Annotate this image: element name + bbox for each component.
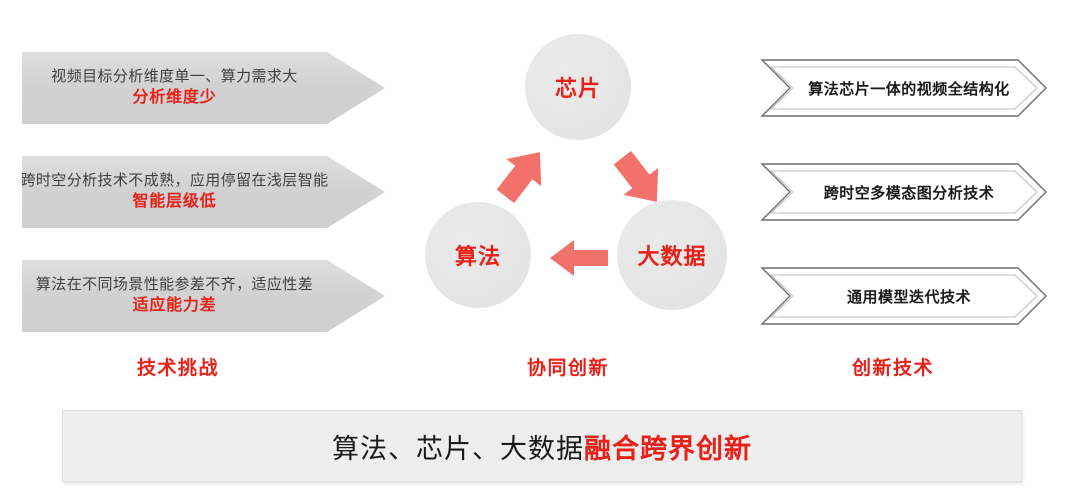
summary-banner: 算法、芯片、大数据融合跨界创新 [62,410,1022,482]
technology-label-3: 通用模型迭代技术 [760,266,1048,326]
node-circle-chip: 芯片 [525,34,631,140]
node-label-algorithm: 算法 [455,239,501,271]
summary-text-red: 融合跨界创新 [584,427,752,466]
cycle-arrow-bigdata-to-algorithm [548,236,610,280]
challenge-description-3: 算法在不同场景性能参差不齐，适应性差 [36,275,313,295]
column-caption-innovative-technology: 创新技术 [852,353,934,380]
technology-chevron-1: 算法芯片一体的视频全结构化 [760,58,1048,118]
summary-text-black: 算法、芯片、大数据 [332,427,584,466]
technology-label-1: 算法芯片一体的视频全结构化 [760,58,1048,118]
cycle-arrow-algorithm-to-chip [492,144,552,206]
technology-label-2: 跨时空多模态图分析技术 [760,162,1048,222]
challenge-highlight-2: 智能层级低 [132,191,216,213]
node-label-chip: 芯片 [555,71,601,103]
challenge-description-1: 视频目标分析维度单一、算力需求大 [51,67,297,87]
cycle-arrow-chip-to-bigdata [608,148,670,210]
column-caption-collaborative-innovation: 协同创新 [527,353,609,380]
challenge-highlight-1: 分析维度少 [132,87,216,109]
diagram-canvas: 视频目标分析维度单一、算力需求大 分析维度少 跨时空分析技术不成熟，应用停留在浅… [0,0,1080,499]
node-label-bigdata: 大数据 [637,239,706,271]
challenge-description-2: 跨时空分析技术不成熟，应用停留在浅层智能 [21,171,329,191]
challenge-arrow-1: 视频目标分析维度单一、算力需求大 分析维度少 [22,52,385,124]
node-circle-algorithm: 算法 [425,202,531,308]
challenge-arrow-3: 算法在不同场景性能参差不齐，适应性差 适应能力差 [22,260,385,332]
challenge-highlight-3: 适应能力差 [132,295,216,317]
column-caption-challenges: 技术挑战 [137,353,219,380]
technology-chevron-3: 通用模型迭代技术 [760,266,1048,326]
challenge-arrow-2: 跨时空分析技术不成熟，应用停留在浅层智能 智能层级低 [22,156,385,228]
node-circle-bigdata: 大数据 [617,200,727,310]
technology-chevron-2: 跨时空多模态图分析技术 [760,162,1048,222]
